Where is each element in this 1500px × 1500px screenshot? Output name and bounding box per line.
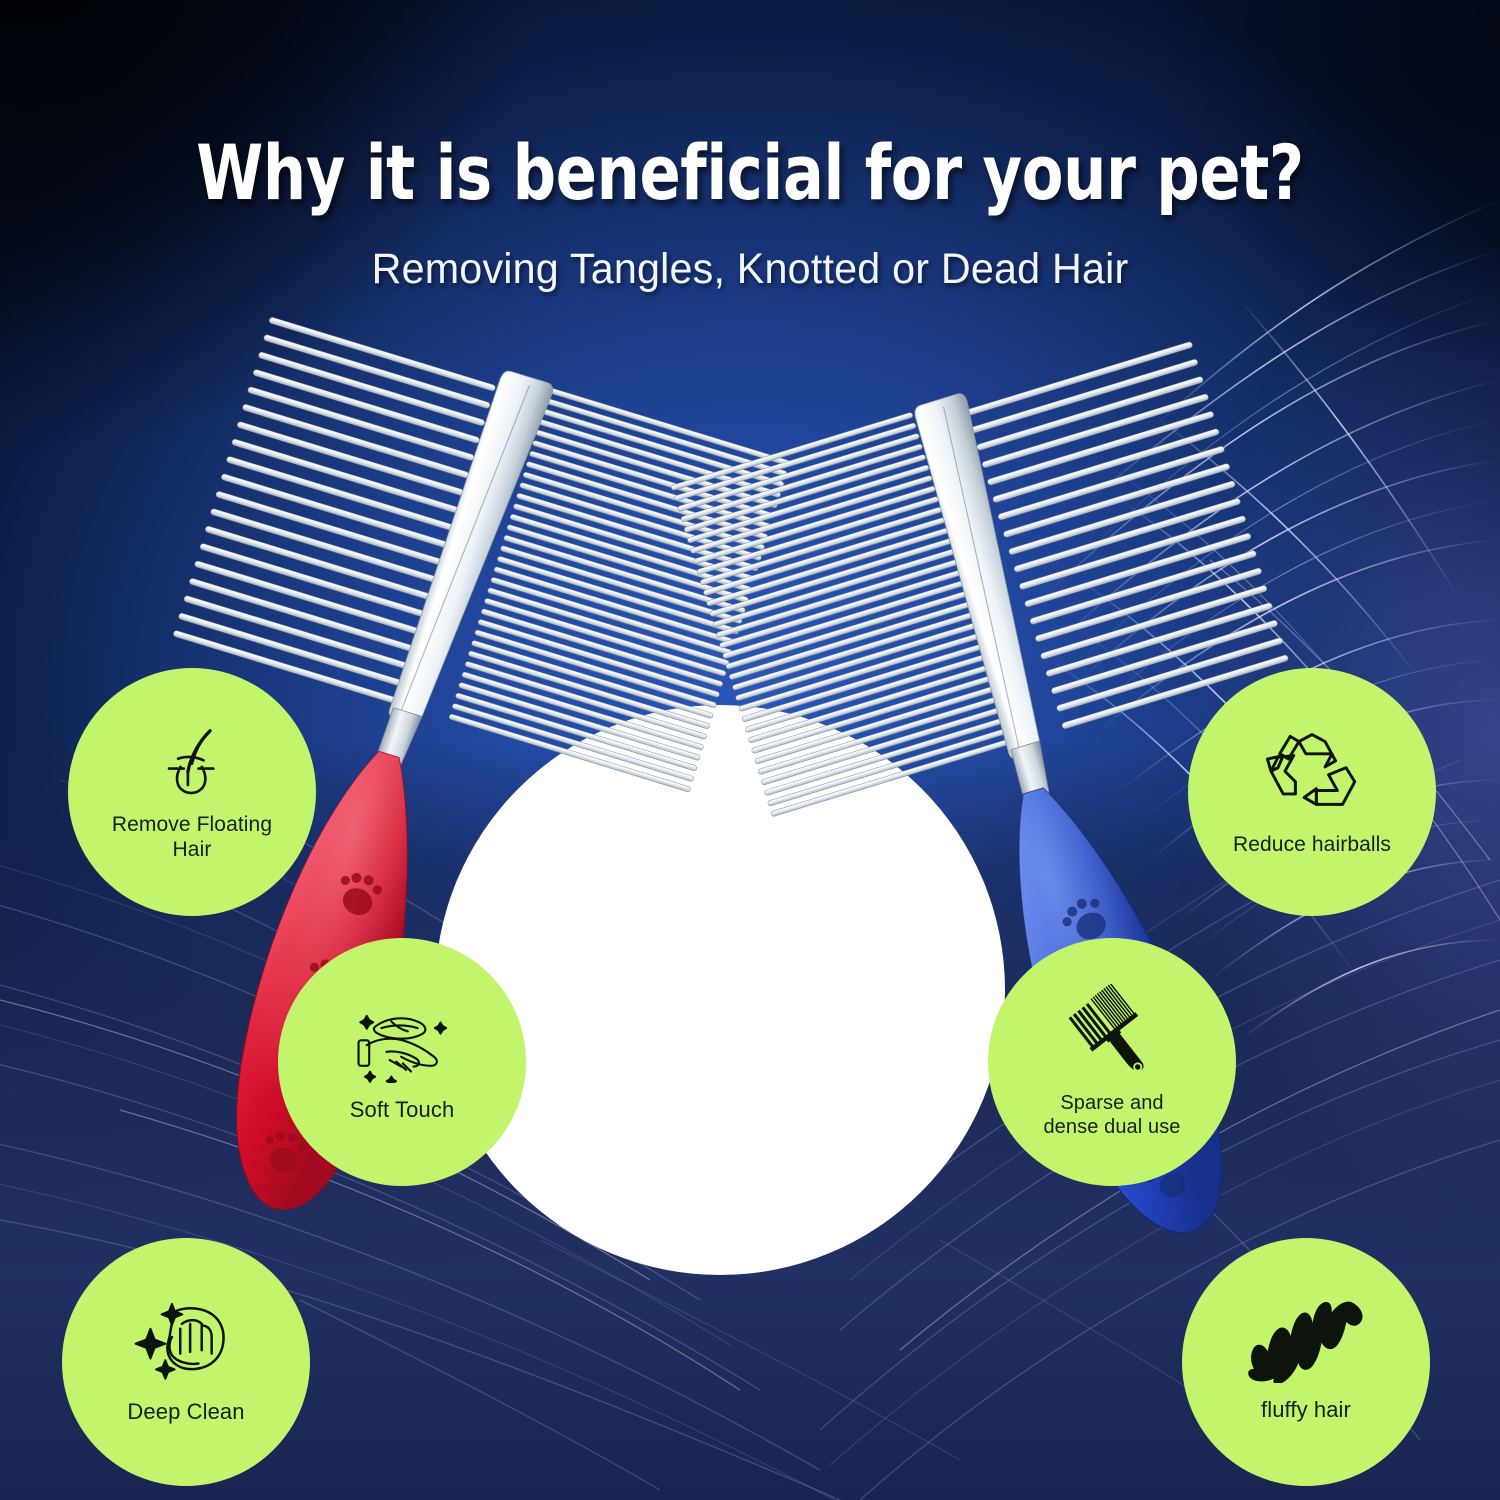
- badge-reduce-hairballs[interactable]: Reduce hairballs: [1188, 668, 1436, 916]
- badge-label: Reduce hairballs: [1223, 833, 1401, 858]
- recycle-icon: [1264, 727, 1360, 819]
- badge-soft-touch[interactable]: Soft Touch: [278, 938, 526, 1186]
- feather-silhouette-icon: [1240, 1301, 1372, 1383]
- page-title: Why it is beneficial for your pet?: [150, 128, 1350, 217]
- badge-label: Soft Touch: [340, 1097, 465, 1123]
- badge-label: Remove FloatingHair: [102, 813, 282, 863]
- badge-label: Deep Clean: [117, 1399, 254, 1425]
- badge-fluffy-hair[interactable]: fluffy hair: [1182, 1238, 1430, 1486]
- badge-deep-clean[interactable]: Deep Clean: [62, 1238, 310, 1486]
- badge-label: Sparse anddense dual use: [1033, 1092, 1190, 1139]
- hair-follicle-icon: [151, 721, 233, 803]
- page-subtitle: Removing Tangles, Knotted or Dead Hair: [30, 245, 1470, 294]
- hand-wiping-sparkle-icon: [132, 1299, 240, 1385]
- feather-on-hand-icon: [347, 1001, 457, 1083]
- badge-label: fluffy hair: [1251, 1397, 1361, 1423]
- infographic-canvas: Why it is beneficial for your pet? Remov…: [0, 0, 1500, 1500]
- badge-remove-floating-hair[interactable]: Remove FloatingHair: [68, 668, 316, 916]
- dual-comb-icon: [1062, 984, 1162, 1084]
- badge-sparse-and-dense-dual-use[interactable]: Sparse anddense dual use: [988, 938, 1236, 1186]
